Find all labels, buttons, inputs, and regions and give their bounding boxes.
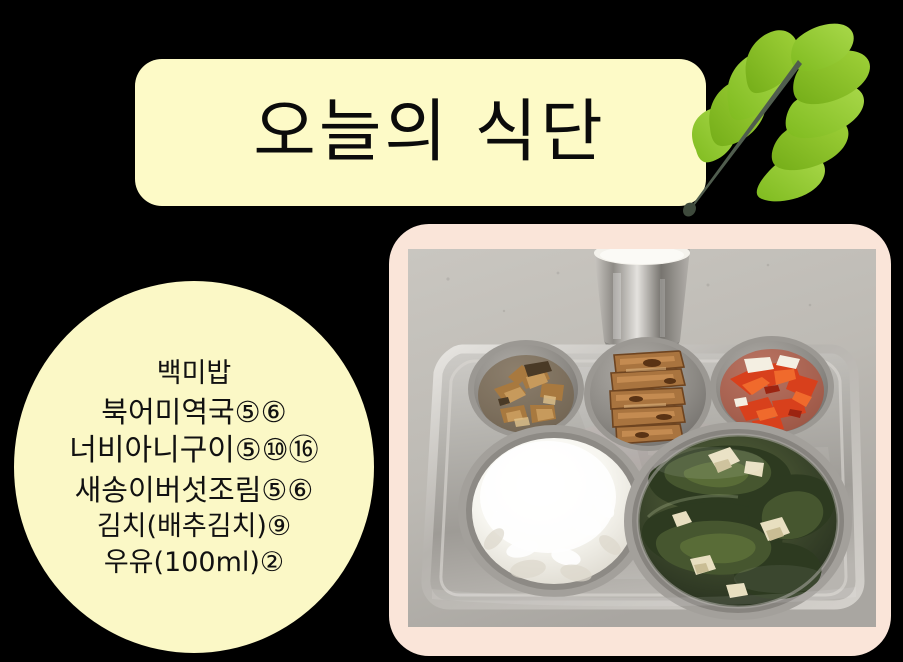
menu-item-soup: 북어미역국⑤⑥	[101, 393, 286, 431]
menu-item-main: 너비아니구이⑤⑩⑯	[69, 431, 318, 471]
menu-item-side: 새송이버섯조림⑤⑥	[75, 471, 314, 509]
photo-frame	[389, 224, 891, 656]
menu-item-rice: 백미밥	[157, 356, 232, 392]
lunch-tray-photo	[408, 249, 876, 627]
menu-item-milk: 우유(100ml)②	[104, 545, 284, 581]
menu-ellipse: 백미밥 북어미역국⑤⑥ 너비아니구이⑤⑩⑯ 새송이버섯조림⑤⑥ 김치(배추김치)…	[14, 281, 374, 653]
menu-list: 백미밥 북어미역국⑤⑥ 너비아니구이⑤⑩⑯ 새송이버섯조림⑤⑥ 김치(배추김치)…	[14, 281, 374, 653]
page-title: 오늘의 식단	[135, 59, 706, 206]
title-plaque: 오늘의 식단	[135, 59, 706, 206]
leaf-branch-icon	[650, 18, 903, 234]
slide-canvas: 오늘의 식단	[0, 0, 903, 662]
menu-item-kimchi: 김치(배추김치)⑨	[97, 509, 291, 545]
